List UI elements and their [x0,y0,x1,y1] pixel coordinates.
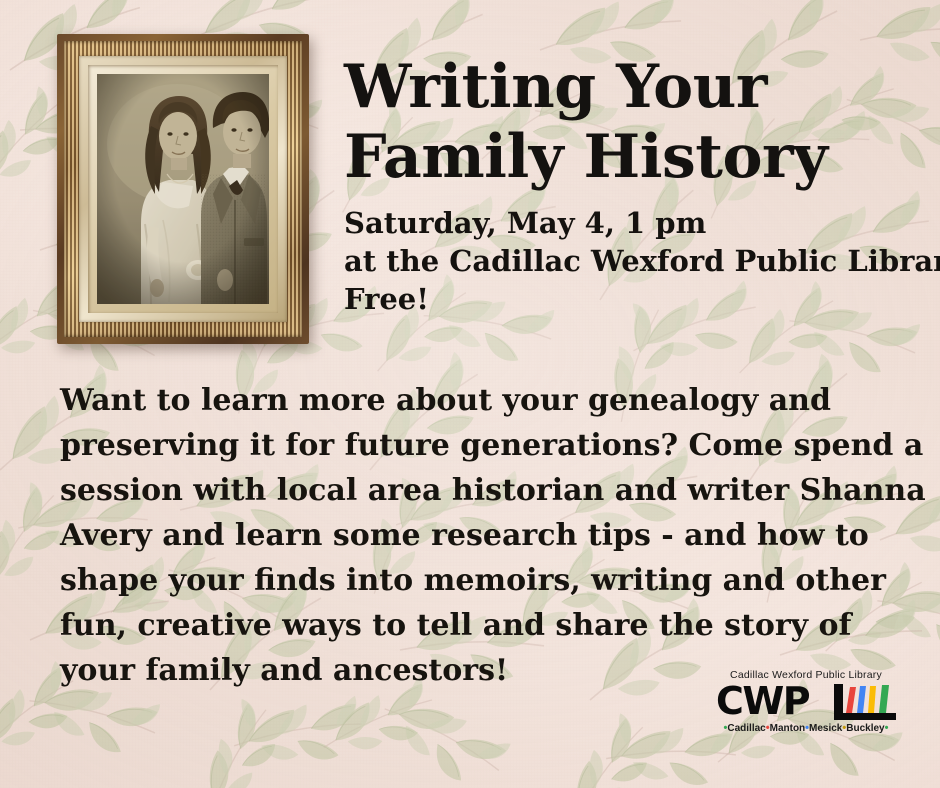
event-details: Saturday, May 4, 1 pm at the Cadillac We… [344,204,924,318]
library-logo[interactable]: Cadillac Wexford Public Library CWP [716,669,896,739]
branch-label-buckley: Buckley [846,723,884,734]
bookshelf-icon [834,684,896,720]
event-location: at the Cadillac Wexford Public Library [344,242,924,280]
event-poster: Writing Your Family History Saturday, Ma… [0,0,940,788]
branch-label-mesick: Mesick [809,723,842,734]
event-description-text: Want to learn more about your genealogy … [60,378,930,693]
branch-label-cadillac: Cadillac [727,723,765,734]
event-description: Want to learn more about your genealogy … [60,378,930,693]
event-price: Free! [344,280,924,318]
event-datetime: Saturday, May 4, 1 pm [344,204,924,242]
branch-label-manton: Manton [770,723,806,734]
headline-block: Writing Your Family History Saturday, Ma… [344,52,924,318]
separator-dot-icon: • [885,722,889,734]
framed-photograph [57,34,309,344]
vintage-portrait-photo [97,74,269,304]
logo-acronym: CWP [716,682,809,720]
page-title-line-1: Writing Your [344,52,924,122]
logo-mark: CWP [716,683,896,721]
page-title-line-2: Family History [344,122,924,192]
logo-branch-list: •Cadillac•Manton•Mesick•Buckley• [716,723,896,735]
